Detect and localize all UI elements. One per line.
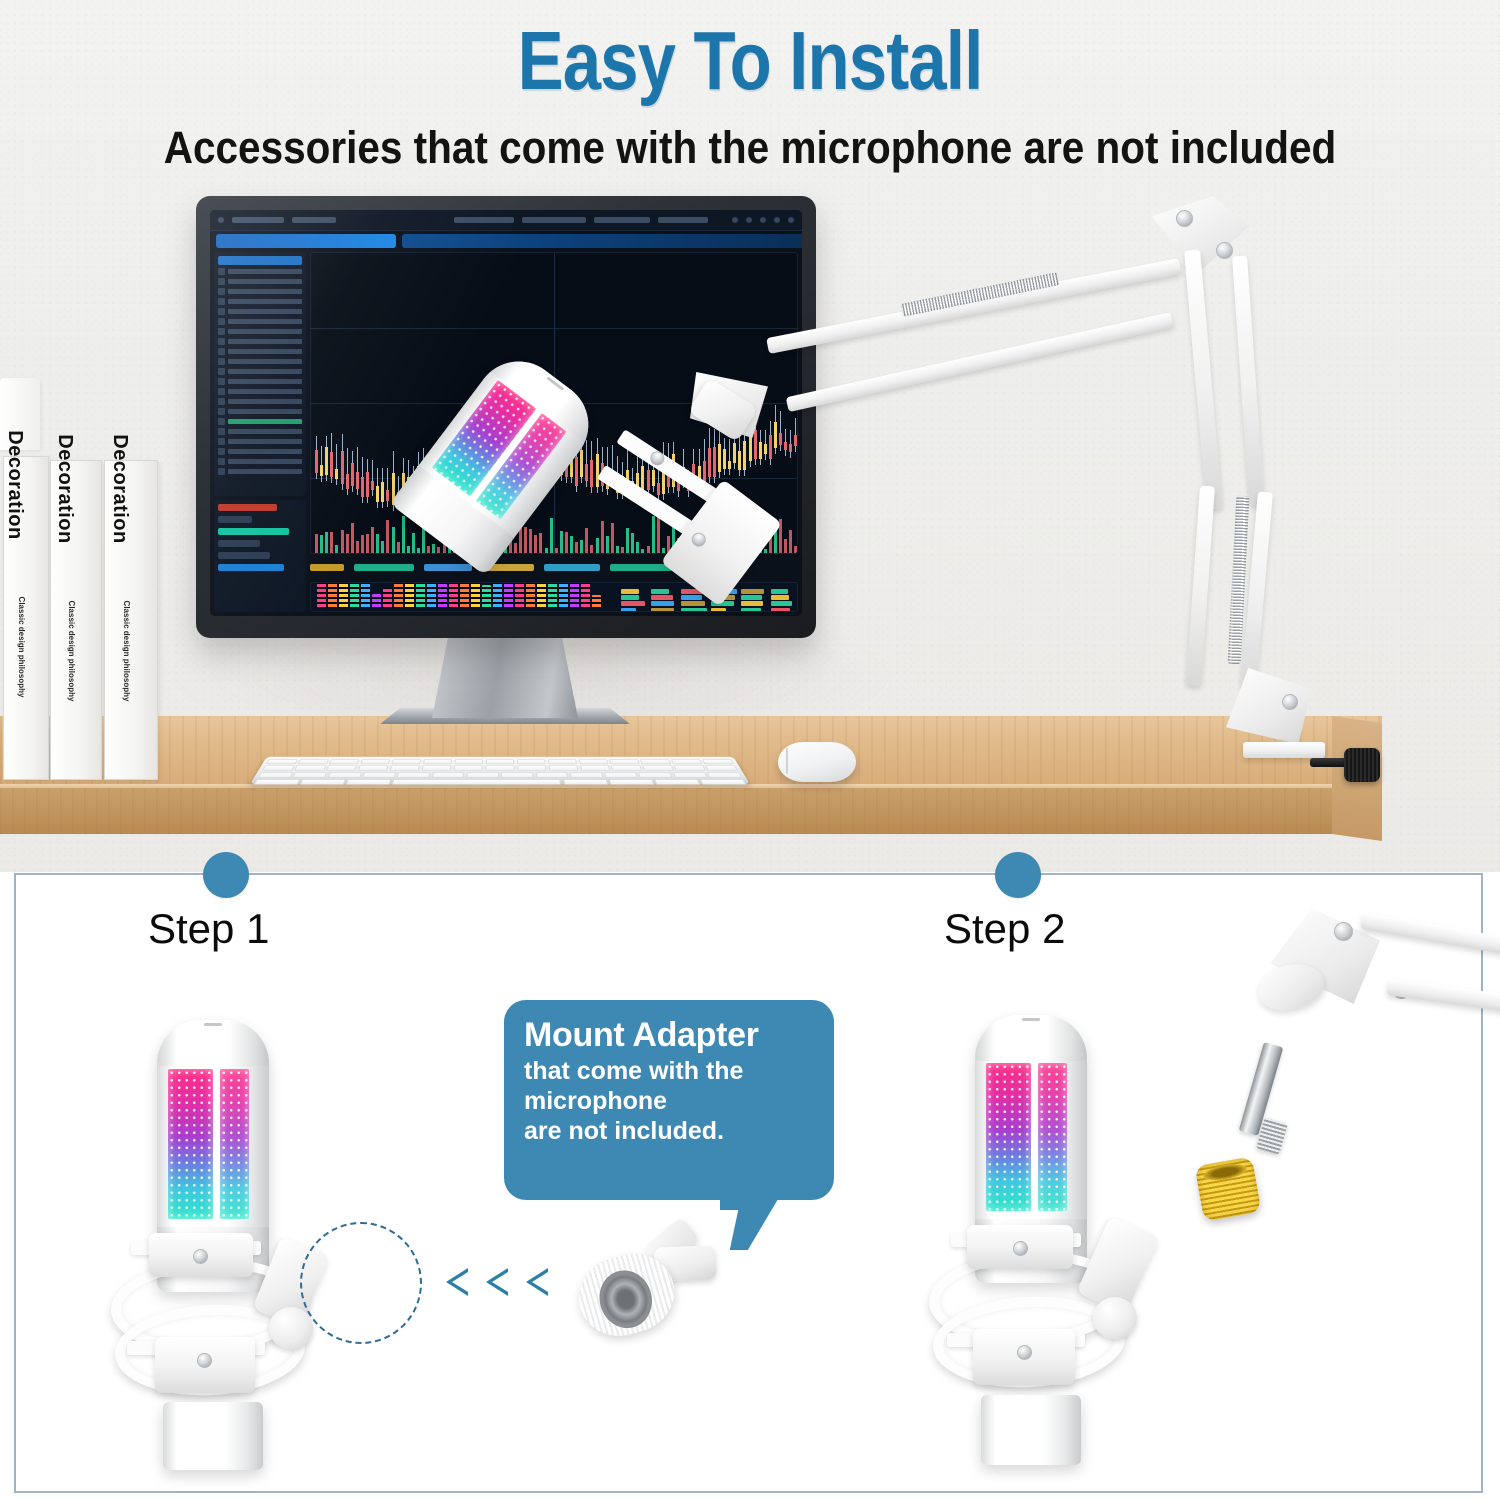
page-title: Easy To Install bbox=[128, 18, 1373, 104]
menu-item bbox=[658, 217, 708, 223]
list-item bbox=[218, 268, 302, 275]
arm-screw bbox=[1216, 242, 1233, 259]
list-item: Decoration Classic design philosophy bbox=[104, 460, 158, 780]
toolbar-icon bbox=[788, 217, 794, 223]
list-item bbox=[218, 468, 302, 475]
shock-mount-icon bbox=[925, 1217, 1175, 1417]
dashboard-top-bar bbox=[210, 210, 802, 231]
menu-item bbox=[232, 217, 284, 223]
arm-lower-segment-c bbox=[1186, 485, 1215, 686]
menu-item bbox=[522, 217, 586, 223]
mic-rgb-grid bbox=[220, 1069, 249, 1219]
app-logo-icon bbox=[218, 217, 224, 223]
callout-heading: Mount Adapter bbox=[524, 1014, 814, 1056]
toolbar-icon bbox=[732, 217, 738, 223]
arm-lower-segment-a bbox=[1184, 249, 1223, 509]
arm-screw bbox=[1176, 210, 1193, 227]
mic-rgb-grid bbox=[986, 1063, 1031, 1210]
mouse-icon bbox=[778, 742, 856, 782]
mic-rgb-grid bbox=[168, 1069, 213, 1219]
book-stack: Decoration Classic design philosophy Dec… bbox=[0, 440, 175, 780]
chevron-left-arrow-icon bbox=[446, 1268, 468, 1296]
menu-item bbox=[454, 217, 514, 223]
key-row bbox=[262, 766, 738, 771]
mic-bottom-cap bbox=[981, 1395, 1081, 1465]
list-item bbox=[218, 378, 302, 385]
mic-mount-pivot bbox=[688, 378, 758, 443]
list-item bbox=[218, 328, 302, 335]
clamp-knob-icon[interactable] bbox=[1344, 748, 1380, 782]
chevron-left-arrow-icon bbox=[526, 1268, 548, 1296]
list-item bbox=[218, 368, 302, 375]
list-item bbox=[218, 448, 302, 455]
list-item bbox=[218, 458, 302, 465]
lower-left-controls bbox=[214, 500, 306, 612]
chevron-left-arrow-icon bbox=[486, 1268, 508, 1296]
step-2-label: Step 2 bbox=[944, 905, 1065, 953]
key-row bbox=[266, 759, 734, 764]
arm-screw bbox=[1282, 694, 1298, 710]
menu-item bbox=[292, 217, 336, 223]
mount-adapter-callout: Mount Adapter that come with the microph… bbox=[504, 1000, 834, 1200]
list-item bbox=[218, 348, 302, 355]
sidebar-selected-row bbox=[218, 256, 302, 265]
book-subtitle: Classic design philosophy bbox=[16, 597, 26, 698]
book-title: Decoration bbox=[53, 434, 76, 543]
adapter-thread bbox=[593, 1264, 659, 1334]
clamp-plate bbox=[1243, 742, 1325, 758]
hero-scene: Easy To Install Accessories that come wi… bbox=[0, 0, 1500, 872]
list-item bbox=[218, 418, 302, 425]
list-item bbox=[218, 388, 302, 395]
watchlist-sidebar bbox=[214, 252, 306, 496]
list-item bbox=[218, 298, 302, 305]
key-row bbox=[258, 772, 742, 777]
step-1-label: Step 1 bbox=[148, 905, 269, 953]
dashed-circle-highlight-icon bbox=[300, 1222, 422, 1344]
step-marker-icon-2 bbox=[995, 852, 1041, 898]
step2-microphone-assembly bbox=[925, 1015, 1255, 1470]
callout-line-2: microphone bbox=[524, 1086, 814, 1116]
list-item bbox=[218, 288, 302, 295]
mic-cap bbox=[975, 1015, 1087, 1061]
mic-rgb-grid bbox=[1038, 1063, 1067, 1210]
list-item bbox=[218, 398, 302, 405]
toolbar-icon bbox=[760, 217, 766, 223]
menu-item bbox=[594, 217, 650, 223]
arm-screw bbox=[1334, 922, 1353, 941]
list-item bbox=[218, 358, 302, 365]
list-item bbox=[218, 438, 302, 445]
list-item bbox=[218, 308, 302, 315]
mounted-microphone-assembly bbox=[498, 370, 788, 600]
list-item bbox=[218, 278, 302, 285]
book-subtitle: Classic design philosophy bbox=[121, 601, 131, 702]
monitor-stand bbox=[432, 630, 578, 718]
dashboard-secondary-bar bbox=[402, 234, 802, 248]
callout-line-1: that come with the bbox=[524, 1056, 814, 1086]
mic-cap bbox=[157, 1020, 269, 1066]
keyboard-icon bbox=[250, 757, 750, 784]
infographic-canvas: Easy To Install Accessories that come wi… bbox=[0, 0, 1500, 1500]
list-item bbox=[218, 408, 302, 415]
toolbar-icon bbox=[746, 217, 752, 223]
list-item: Decoration Classic design philosophy bbox=[3, 456, 49, 780]
callout-line-3: are not included. bbox=[524, 1116, 814, 1146]
arm-lower-segment-b bbox=[1232, 255, 1264, 505]
step-marker-icon-1 bbox=[203, 852, 249, 898]
key-row bbox=[254, 779, 747, 785]
toolbar-icon bbox=[774, 217, 780, 223]
book-title: Decoration bbox=[3, 430, 26, 539]
list-item: Decoration Classic design philosophy bbox=[50, 460, 102, 780]
desk-front bbox=[0, 788, 1382, 834]
book-subtitle: Classic design philosophy bbox=[66, 601, 76, 702]
dashboard-primary-bar bbox=[216, 234, 396, 248]
page-subtitle: Accessories that come with the microphon… bbox=[75, 122, 1425, 174]
mic-bottom-cap bbox=[163, 1402, 263, 1470]
shock-mount-icon bbox=[567, 411, 791, 621]
list-item bbox=[218, 428, 302, 435]
gold-thread-adapter-icon bbox=[1195, 1156, 1262, 1221]
list-item bbox=[218, 318, 302, 325]
arm-upper-segment-a bbox=[766, 258, 1181, 354]
book-title: Decoration bbox=[108, 434, 131, 543]
list-item bbox=[218, 338, 302, 345]
